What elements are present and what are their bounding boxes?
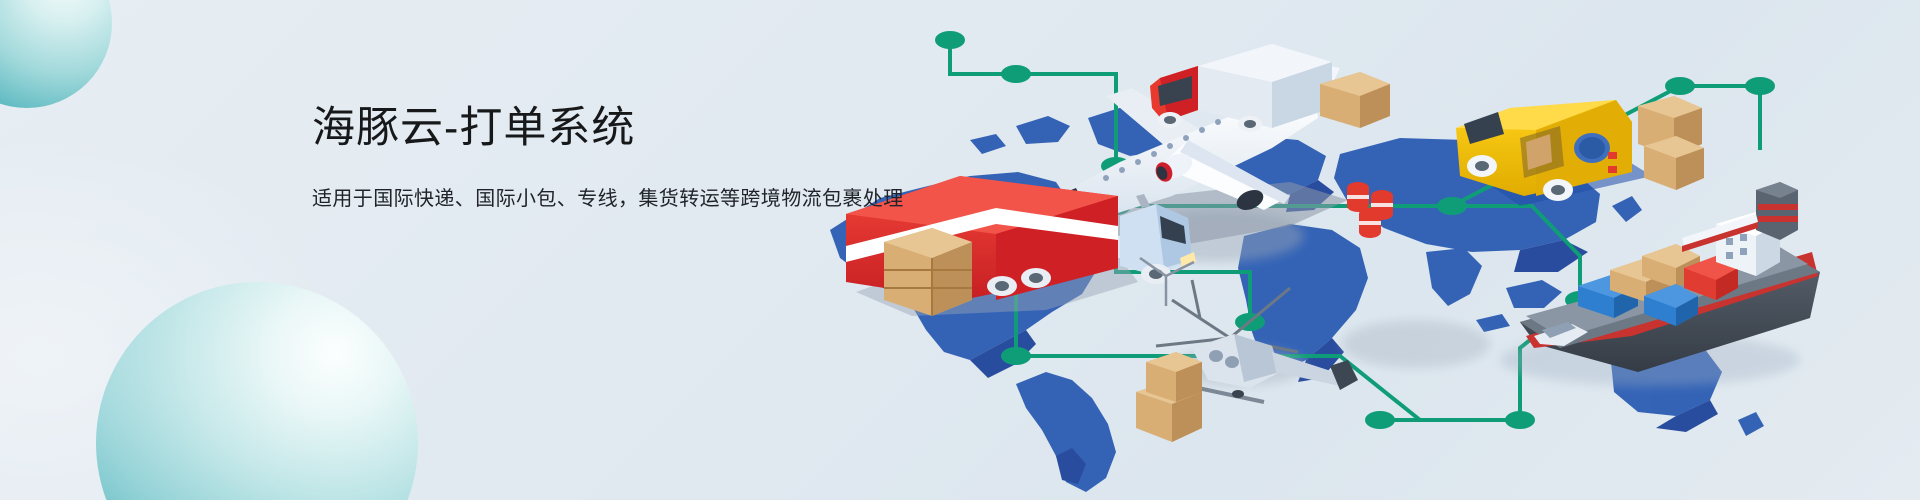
page-subtitle: 适用于国际快递、国际小包、专线，集货转运等跨境物流包裹处理 <box>312 154 932 214</box>
cargo-boxes <box>884 228 972 316</box>
box-truck <box>1150 44 1390 132</box>
hero-copy: 海豚云-打单系统 适用于国际快递、国际小包、专线，集货转运等跨境物流包裹处理 <box>312 104 932 214</box>
decor-haze <box>0 120 360 500</box>
hero-banner: 海豚云-打单系统 适用于国际快递、国际小包、专线，集货转运等跨境物流包裹处理 <box>0 0 1920 500</box>
global-logistics-illustration <box>820 0 1920 500</box>
page-title: 海豚云-打单系统 <box>312 104 932 154</box>
decor-circle-top-left <box>0 0 112 108</box>
decor-circle-bottom-left <box>96 282 418 500</box>
